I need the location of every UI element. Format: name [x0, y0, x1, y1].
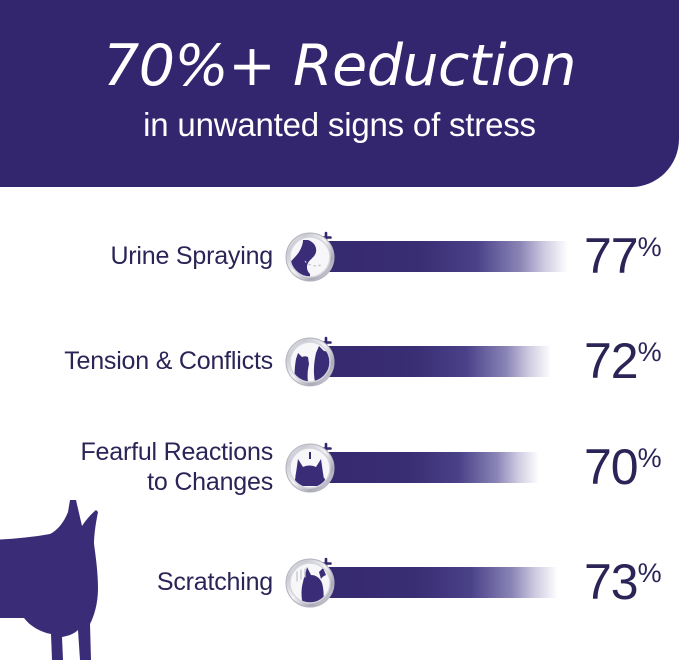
- row-value-unit: %: [638, 558, 662, 588]
- row-value-number: 77: [584, 228, 638, 284]
- bar-wrapper: [285, 333, 568, 389]
- bar-track: [328, 452, 568, 483]
- row-label: Scratching: [0, 567, 285, 598]
- row-value: 70%: [568, 442, 679, 492]
- row-value-number: 72: [584, 333, 638, 389]
- cat-spraying-badge-icon: [285, 228, 341, 284]
- page-subtitle: in unwanted signs of stress: [0, 108, 679, 141]
- row-value: 72%: [568, 336, 679, 386]
- bar-track: [328, 346, 568, 377]
- chart-row-scratching: Scratching: [0, 554, 679, 610]
- bar-track: [328, 241, 568, 272]
- row-label-line: Fearful Reactions: [0, 437, 273, 468]
- row-label: Tension & Conflicts: [0, 346, 285, 377]
- row-value: 77%: [568, 231, 679, 281]
- bar-wrapper: [285, 554, 568, 610]
- bar-fill: [328, 452, 539, 483]
- row-label-line: Urine Spraying: [0, 241, 273, 272]
- fearful-cat-badge-icon: [285, 439, 341, 495]
- row-label-line: Tension & Conflicts: [0, 346, 273, 377]
- row-value-unit: %: [638, 337, 662, 367]
- bar-wrapper: [285, 439, 568, 495]
- row-value-unit: %: [638, 232, 662, 262]
- bar-wrapper: [285, 228, 568, 284]
- chart-row-tension-conflicts: Tension & Conflicts: [0, 333, 679, 389]
- row-value-number: 73: [584, 554, 638, 610]
- row-value-unit: %: [638, 443, 662, 473]
- bar-fill: [328, 346, 551, 377]
- bar-track: [328, 567, 568, 598]
- chart-row-urine-spraying: Urine Spraying: [0, 228, 679, 284]
- row-label-line: to Changes: [0, 467, 273, 498]
- two-cats-tension-badge-icon: [285, 333, 341, 389]
- bar-fill: [328, 241, 568, 272]
- stress-reduction-chart: Urine Spraying: [0, 187, 679, 667]
- page-title: 70%+ Reduction: [0, 38, 679, 95]
- bar-fill: [328, 567, 558, 598]
- row-label: Urine Spraying: [0, 241, 285, 272]
- row-label: Fearful Reactions to Changes: [0, 437, 285, 498]
- cat-scratching-badge-icon: [285, 554, 341, 610]
- row-value: 73%: [568, 557, 679, 607]
- chart-row-fearful-reactions: Fearful Reactions to Changes: [0, 439, 679, 495]
- row-label-line: Scratching: [0, 567, 273, 598]
- header-banner: 70%+ Reduction in unwanted signs of stre…: [0, 0, 679, 187]
- row-value-number: 70: [584, 439, 638, 495]
